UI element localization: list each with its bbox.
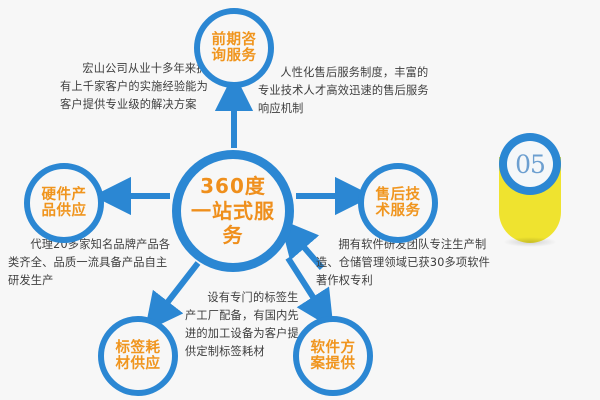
infographic-canvas: 360度 一站式服务 前期咨 询服务 硬件产 品供应 售后技 术服务 标签耗 材… [0, 0, 600, 400]
description-label-consumables: 设有专门的标签生产工厂配备，有国内先进的加工设备为客户提供定制标签耗材 [185, 289, 307, 362]
description-pre-sales: 宏山公司从业十多年来拥有上千家客户的实施经验能为客户提供专业级的解决方案 [60, 60, 212, 114]
node-label-consumables-supply[interactable]: 标签耗 材供应 [98, 316, 178, 396]
node-hardware-supply[interactable]: 硬件产 品供应 [24, 163, 104, 243]
description-hardware: 代理20多家知名品牌产品各类齐全、品质一流具备产品自主研发生产 [8, 236, 178, 290]
node-label: 标签耗 材供应 [116, 340, 161, 372]
description-after-sales: 人性化售后服务制度，丰富的专业技术人才高效迅速的售后服务响应机制 [258, 64, 434, 118]
hub-circle-360-service[interactable]: 360度 一站式服务 [172, 150, 294, 272]
node-label: 硬件产 品供应 [42, 187, 87, 219]
node-label: 售后技 术服务 [376, 187, 421, 219]
node-software-solution[interactable]: 软件方 案提供 [293, 316, 373, 396]
node-label: 前期咨 询服务 [212, 32, 257, 64]
badge-number: 05 [515, 150, 545, 179]
description-software: 拥有软件研发团队专注生产制造、仓储管理领域已获30多项软件著作权专利 [316, 236, 496, 290]
badge-inner-disc: 05 [507, 141, 553, 187]
node-pre-sales-consulting[interactable]: 前期咨 询服务 [194, 8, 274, 88]
section-number-badge: 05 [499, 133, 561, 243]
node-label: 软件方 案提供 [311, 340, 356, 372]
node-after-sales-tech[interactable]: 售后技 术服务 [358, 163, 438, 243]
badge-ring: 05 [499, 133, 561, 195]
badge-shadow [503, 237, 557, 247]
hub-label: 360度 一站式服务 [181, 174, 285, 247]
